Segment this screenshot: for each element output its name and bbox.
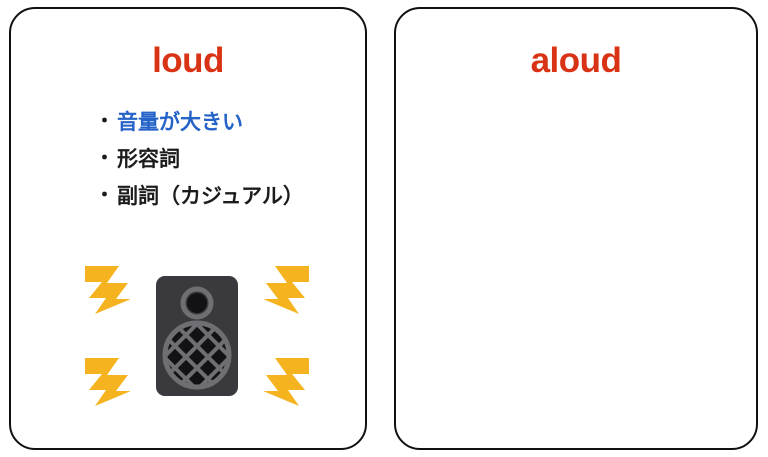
card-loud-title: loud: [11, 43, 365, 78]
bullet-text: 形容詞: [117, 148, 180, 172]
speaker-tweeter: [187, 293, 207, 313]
list-item: ・ 音量が大きい: [95, 111, 304, 135]
bullet-marker-icon: ・: [95, 148, 114, 170]
comparison-board: loud ・ 音量が大きい ・ 形容詞 ・ 副詞（カジュアル）: [0, 0, 768, 457]
list-item: ・ 形容詞: [95, 148, 304, 172]
lightning-bolt-icon: [263, 266, 309, 406]
bullet-text: 音量が大きい: [117, 111, 243, 135]
card-loud-bullet-list: ・ 音量が大きい ・ 形容詞 ・ 副詞（カジュアル）: [95, 111, 304, 222]
bullet-marker-icon: ・: [95, 111, 114, 133]
bullet-text: 副詞（カジュアル）: [117, 185, 304, 209]
card-aloud: aloud ・ 声に出して ・ 副詞: [394, 7, 758, 450]
list-item: ・ 副詞（カジュアル）: [95, 185, 304, 209]
card-loud: loud ・ 音量が大きい ・ 形容詞 ・ 副詞（カジュアル）: [9, 7, 367, 450]
loudspeaker-illustration: [77, 254, 317, 419]
bullet-marker-icon: ・: [95, 185, 114, 207]
lightning-bolt-icon: [85, 266, 131, 406]
card-aloud-title: aloud: [396, 43, 756, 78]
